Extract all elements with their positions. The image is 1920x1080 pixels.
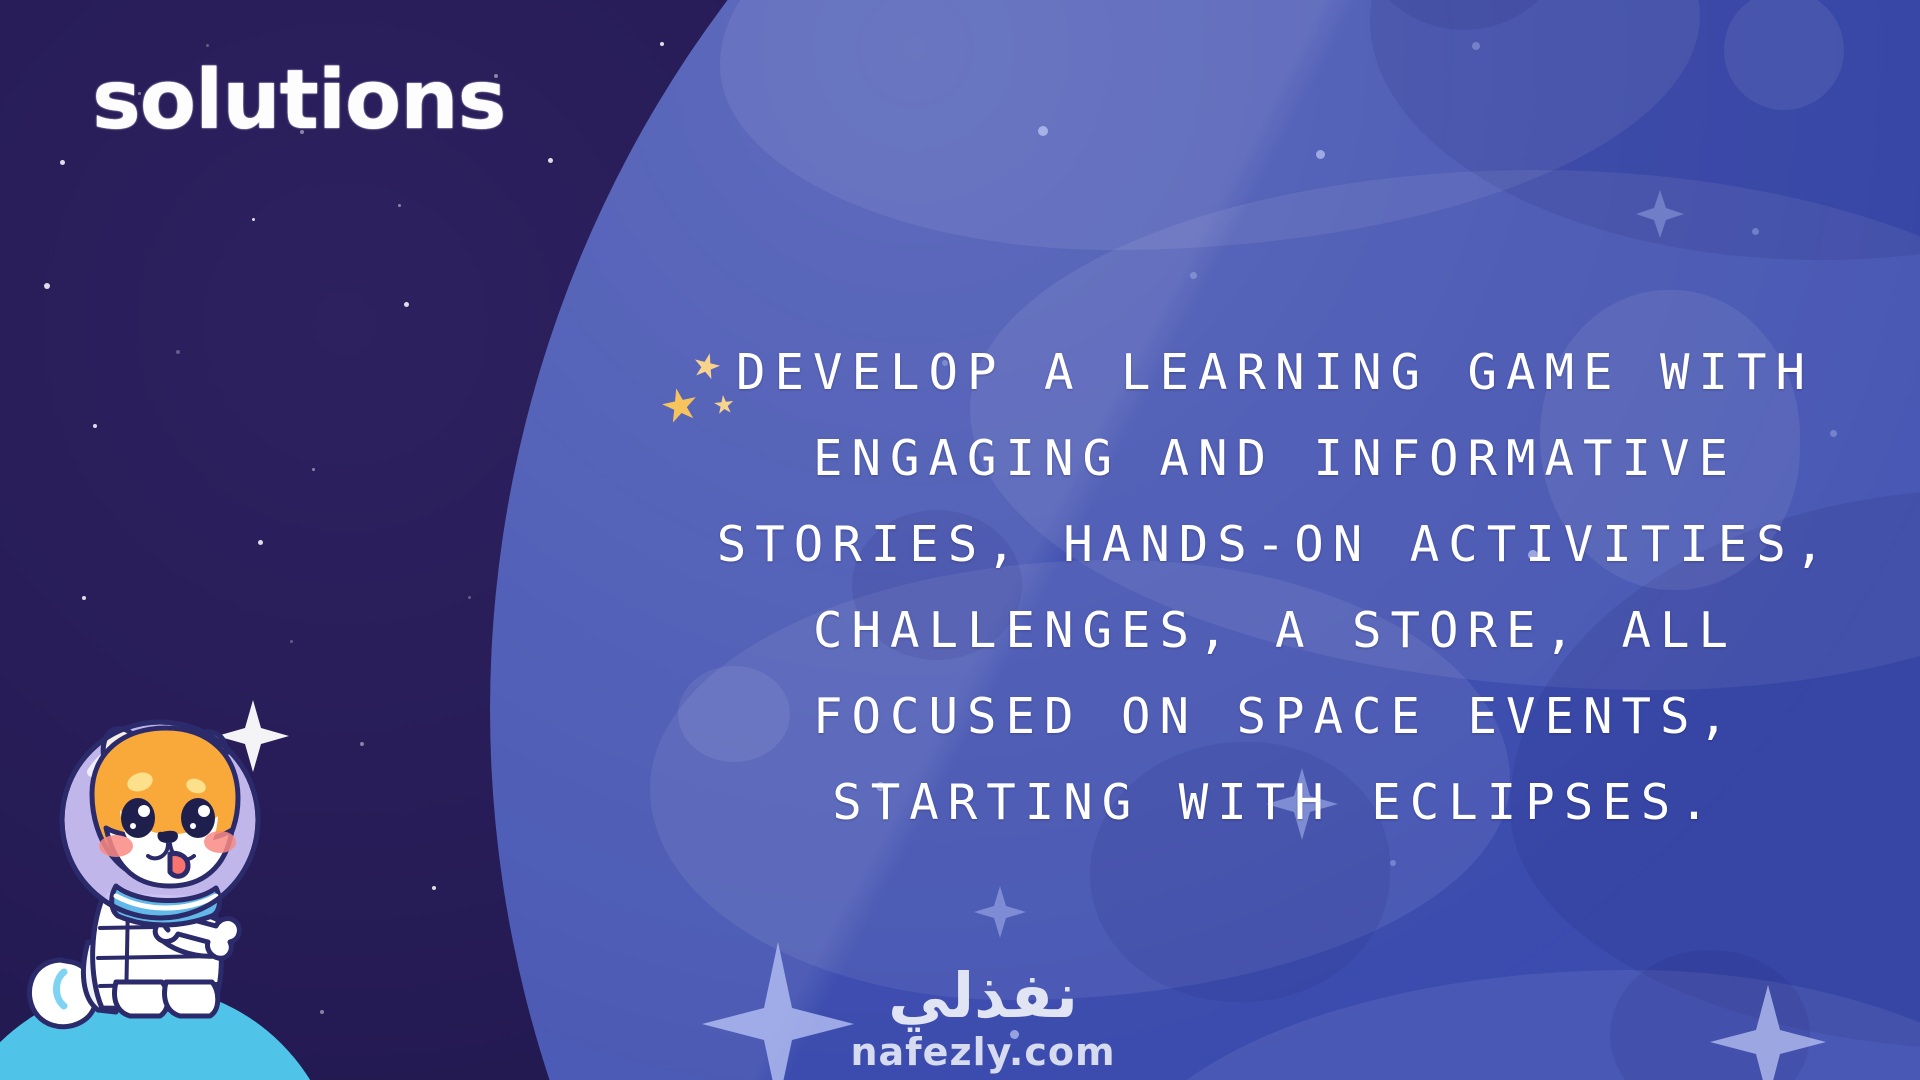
slide-canvas: solutions Develop a learning game with e… xyxy=(0,0,1920,1080)
watermark: نفذلي nafezly.com xyxy=(838,965,1128,1071)
watermark-arabic: نفذلي xyxy=(838,965,1128,1027)
solutions-description: Develop a learning game with engaging an… xyxy=(690,330,1860,846)
page-title: solutions xyxy=(92,60,505,142)
watermark-domain: nafezly.com xyxy=(838,1033,1128,1071)
body-text-block: Develop a learning game with engaging an… xyxy=(690,330,1860,846)
astronaut-shiba-icon xyxy=(20,690,300,1080)
